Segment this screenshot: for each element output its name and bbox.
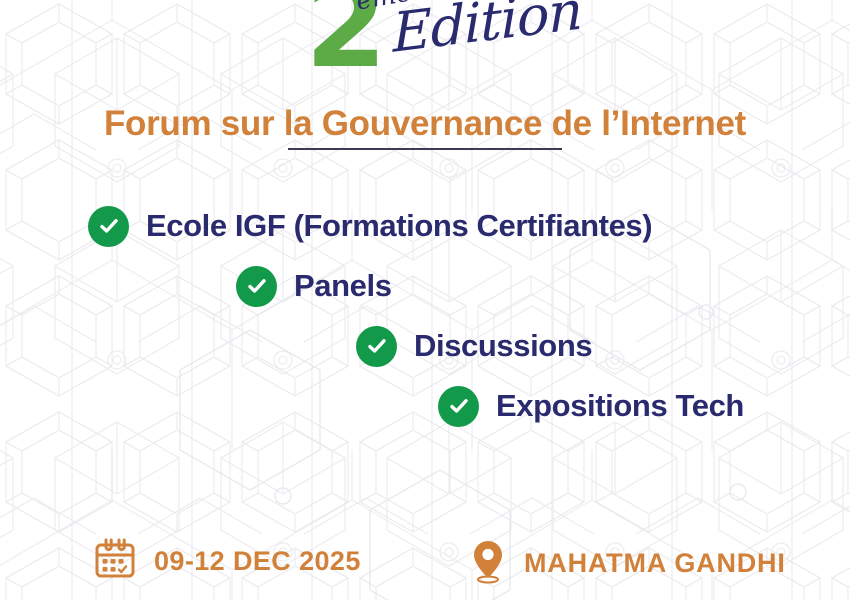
list-item: Discussions xyxy=(0,316,850,376)
list-item: Ecole IGF (Formations Certifiantes) xyxy=(0,196,850,256)
feature-list: Ecole IGF (Formations Certifiantes) Pane… xyxy=(0,196,850,436)
edition-word: Edition xyxy=(392,0,582,65)
page-title: Forum sur la Gouvernance de l’Internet xyxy=(0,104,850,144)
edition-lockup: 2 ème Edition xyxy=(0,0,850,94)
list-item-label: Panels xyxy=(294,268,392,304)
event-location-text: MAHATMA GANDHI xyxy=(524,548,786,579)
poster-content: FORUM 2025 2 ème Edition Forum sur la Go… xyxy=(0,0,850,600)
footer-meta: 09-12 DEC 2025 MAHATMA GANDHI xyxy=(0,536,850,600)
event-date-text: 09-12 DEC 2025 xyxy=(154,546,361,577)
list-item-label: Expositions Tech xyxy=(496,388,744,424)
check-circle-icon xyxy=(356,326,397,367)
calendar-icon xyxy=(92,536,138,587)
event-location-block: MAHATMA GANDHI xyxy=(468,538,786,589)
list-item: Expositions Tech xyxy=(0,376,850,436)
event-poster: FORUM 2025 2 ème Edition Forum sur la Go… xyxy=(0,0,850,600)
check-circle-icon xyxy=(236,266,277,307)
location-pin-icon xyxy=(468,538,508,589)
list-item: Panels xyxy=(0,256,850,316)
event-date-block: 09-12 DEC 2025 xyxy=(92,536,361,587)
list-item-label: Discussions xyxy=(414,328,592,364)
check-circle-icon xyxy=(88,206,129,247)
title-divider xyxy=(288,148,562,150)
list-item-label: Ecole IGF (Formations Certifiantes) xyxy=(146,208,652,244)
check-circle-icon xyxy=(438,386,479,427)
